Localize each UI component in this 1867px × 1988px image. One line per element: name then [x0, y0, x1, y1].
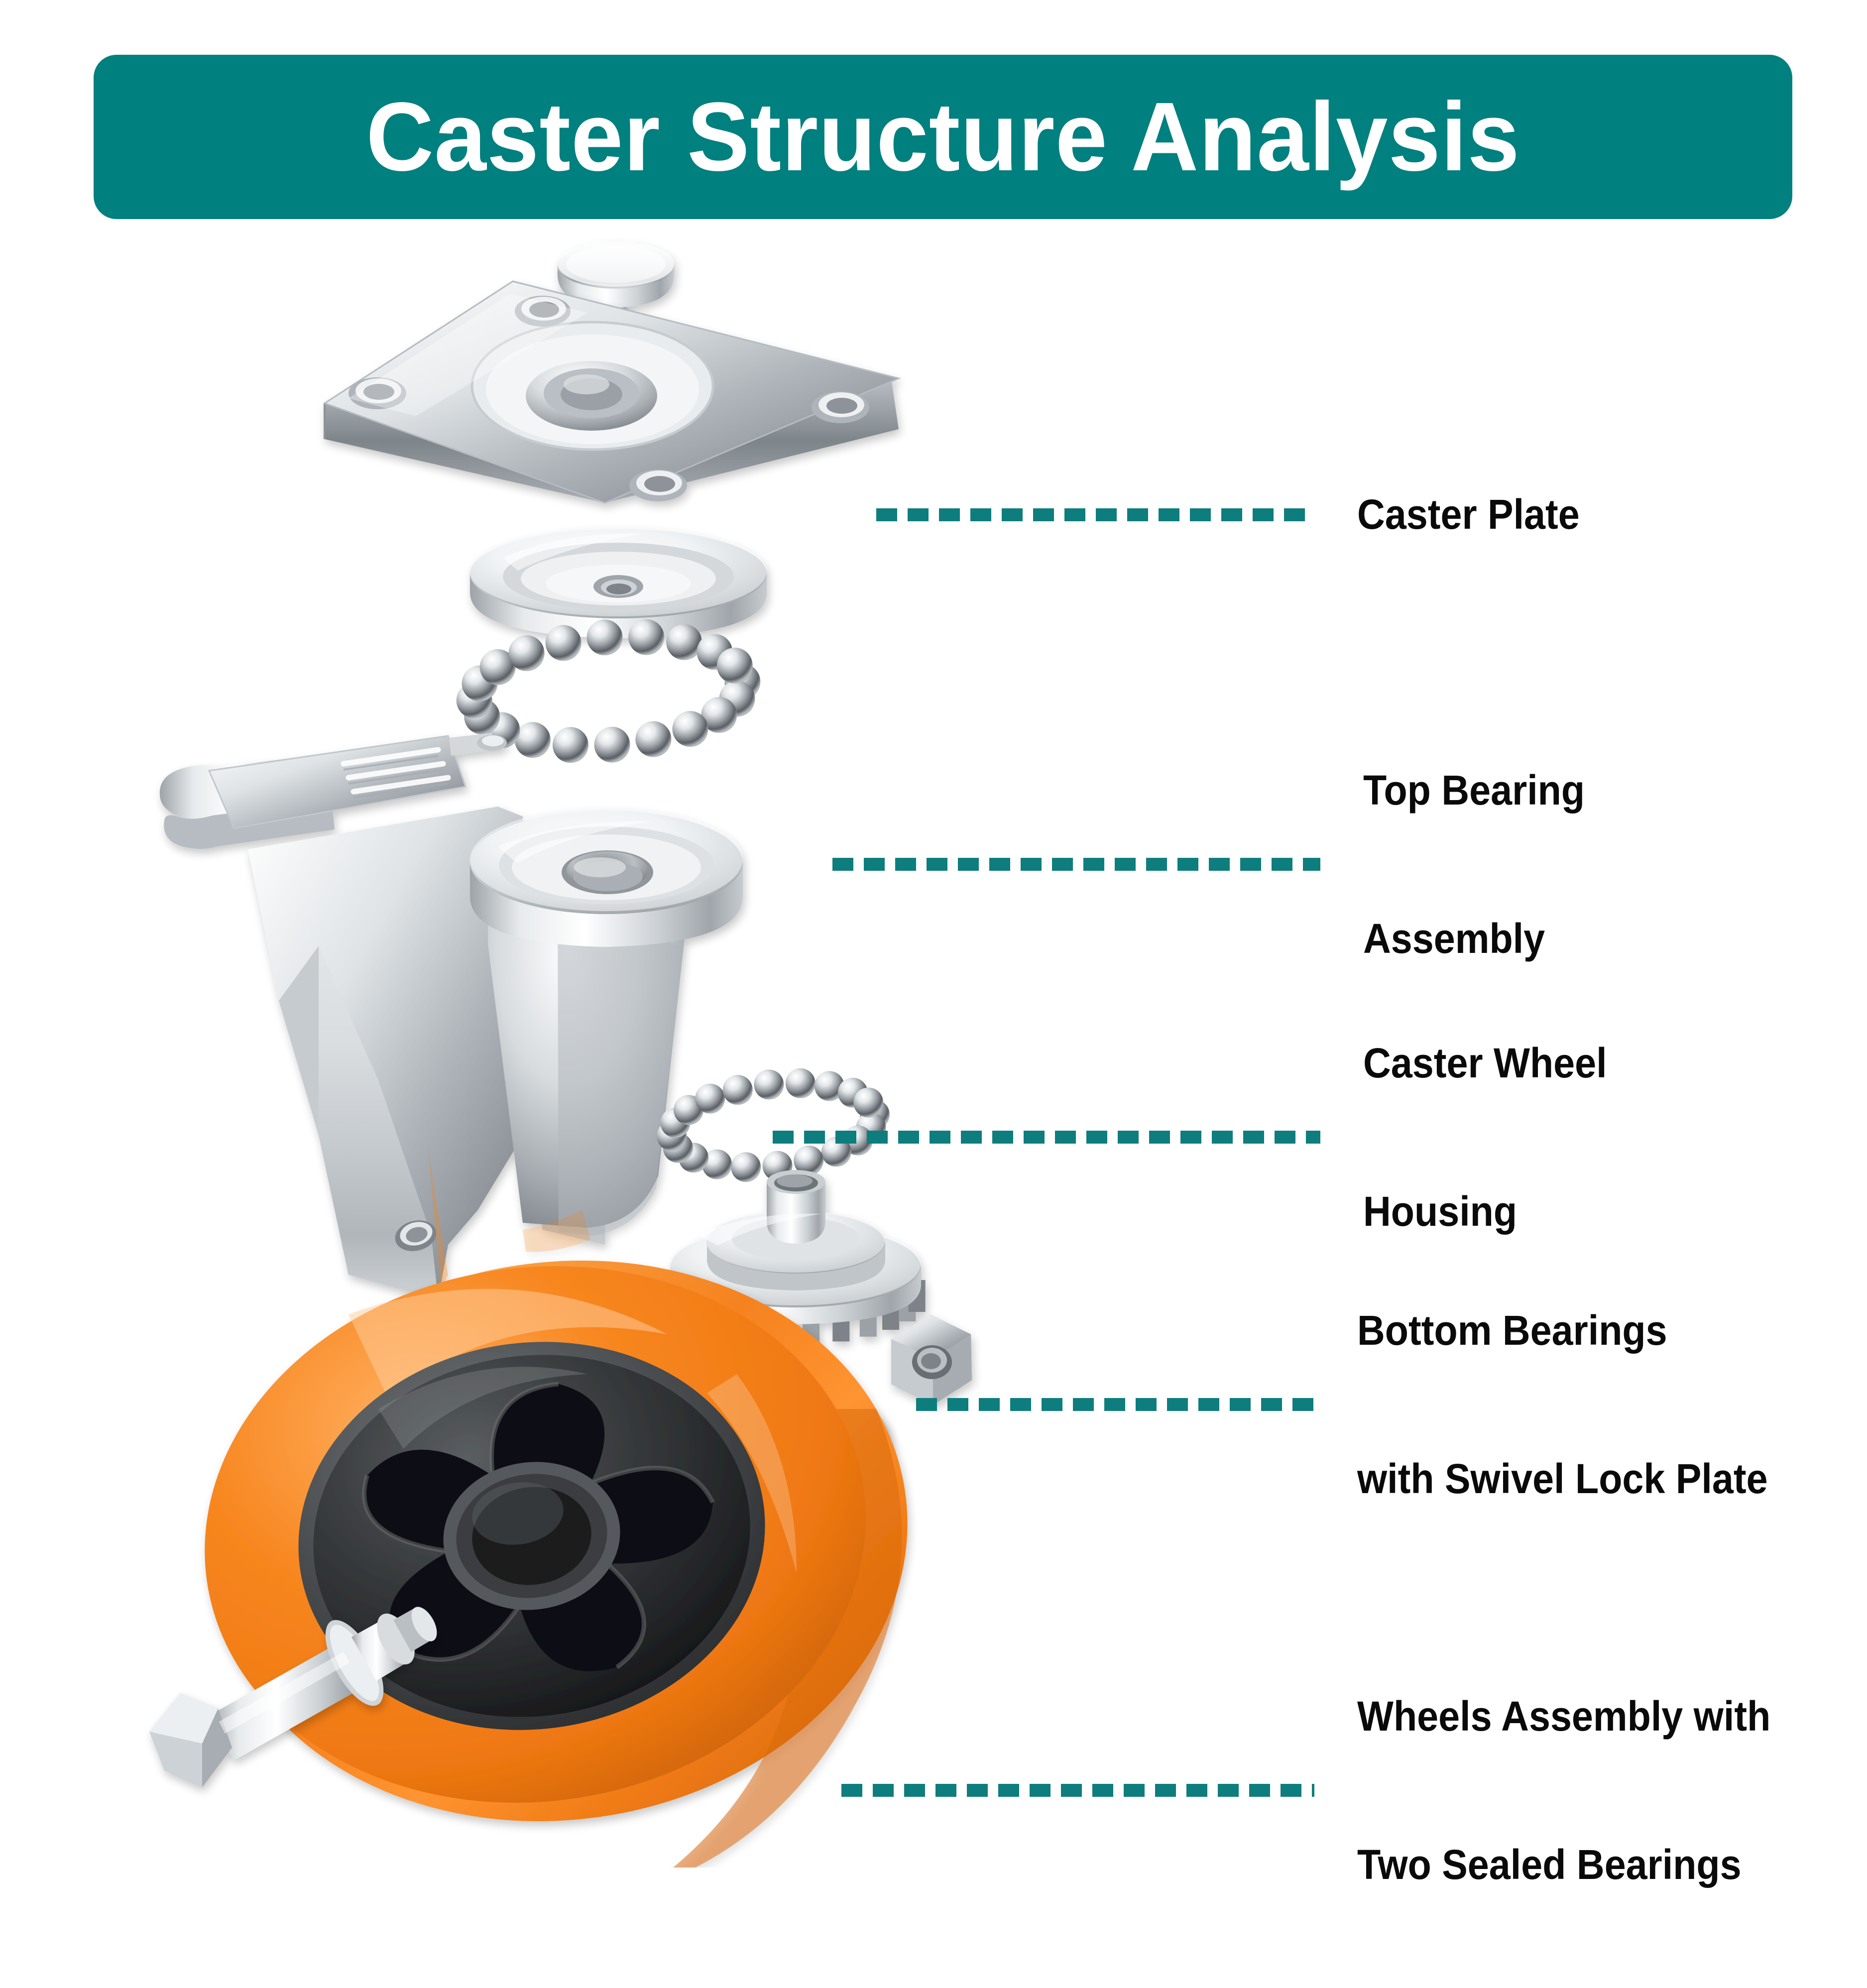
callout-line: with Swivel Lock Plate	[1357, 1454, 1768, 1504]
top-bearing-cup-part	[470, 527, 767, 638]
caster-plate-part	[325, 281, 899, 503]
callout-label-caster-plate: Caster Plate	[1357, 391, 1580, 638]
leader-line-bottom-bearings	[916, 1398, 1314, 1411]
callout-caster-plate: Caster Plate	[876, 391, 1599, 638]
callout-line: Two Sealed Bearings	[1357, 1840, 1770, 1889]
callout-wheels-assembly: Wheels Assembly with Two Sealed Bearings	[841, 1593, 1806, 1988]
callout-label-bottom-bearings: Bottom Bearings with Swivel Lock Plate	[1357, 1207, 1768, 1602]
caster-wheel-housing-part	[160, 733, 743, 1299]
callout-line: Caster Plate	[1357, 490, 1580, 539]
leader-line-wheels-assembly	[841, 1784, 1314, 1797]
callout-label-wheels-assembly: Wheels Assembly with Two Sealed Bearings	[1357, 1593, 1770, 1988]
callout-line: Bottom Bearings	[1357, 1306, 1768, 1355]
leader-line-caster-plate	[876, 508, 1314, 521]
callout-bottom-bearings: Bottom Bearings with Swivel Lock Plate	[916, 1207, 1803, 1602]
leader-line-caster-wheel-housing	[773, 1131, 1320, 1144]
callout-line: Top Bearing	[1363, 766, 1585, 815]
leader-line-top-bearing-assembly	[832, 858, 1320, 871]
diagram-page: Caster Structure Analysis	[0, 0, 1867, 1868]
callout-line: Wheels Assembly with	[1357, 1692, 1770, 1741]
callout-line: Caster Wheel	[1363, 1039, 1607, 1088]
